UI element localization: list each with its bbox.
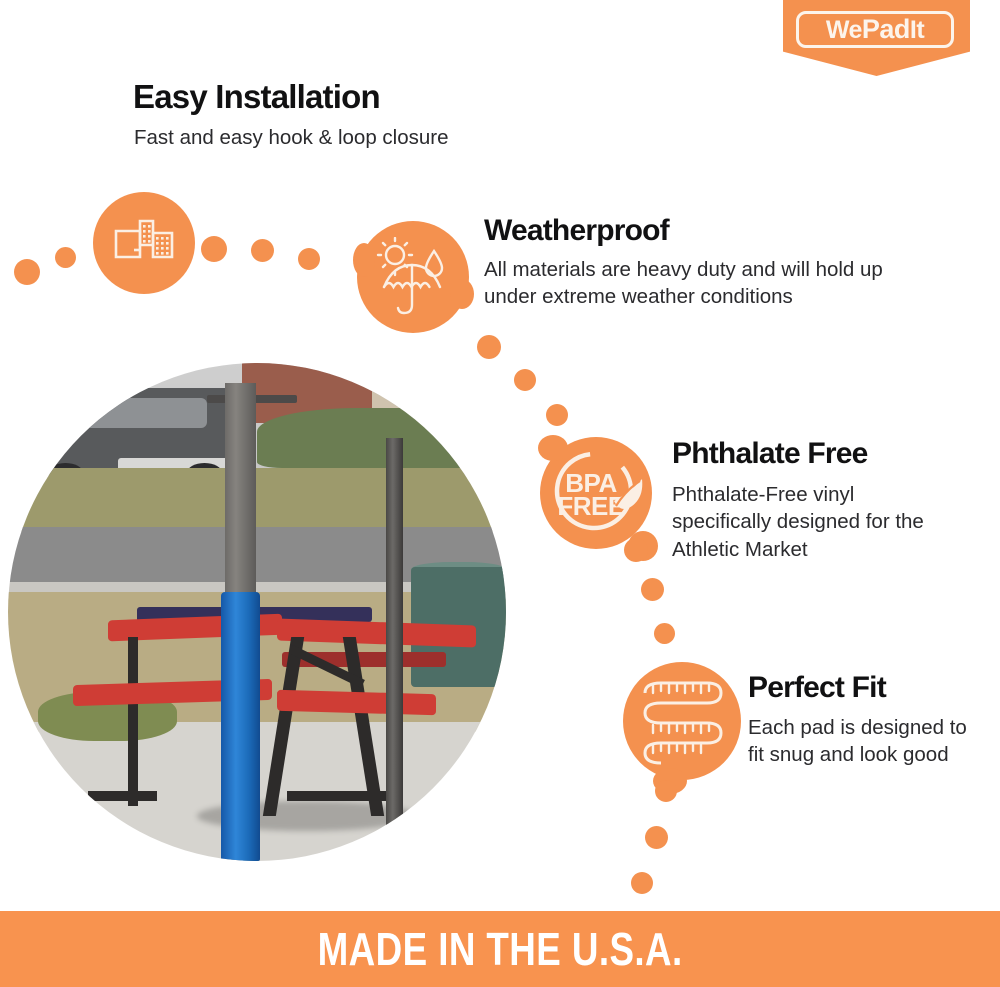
logo-wordmark: WePadIt: [826, 16, 924, 43]
svg-text:FREE: FREE: [557, 491, 625, 521]
hook-and-loop-icon: [93, 192, 195, 294]
feature-body-phthalate-free: Phthalate-Free vinyl specifically design…: [672, 481, 934, 563]
trail-dot: [14, 259, 40, 285]
bpa-free-leaf-icon: BPA FREE: [540, 437, 652, 549]
trail-dot: [624, 538, 648, 562]
trail-dot: [55, 247, 76, 268]
logo-text-pad: Pad: [862, 14, 910, 44]
umbrella-sun-rain-icon: [357, 221, 469, 333]
trail-dot: [298, 248, 320, 270]
feature-body-perfect-fit: Each pad is designed to fit snug and loo…: [748, 714, 976, 769]
trail-dot: [477, 335, 501, 359]
product-photo-scene: [8, 363, 506, 861]
trail-dot: [655, 780, 677, 802]
made-in-usa-text: MADE IN THE U.S.A.: [318, 922, 683, 976]
feature-title-perfect-fit: Perfect Fit: [748, 672, 886, 704]
feature-body-weatherproof: All materials are heavy duty and will ho…: [484, 256, 914, 311]
trail-dot: [201, 236, 227, 262]
trail-dot: [251, 239, 274, 262]
icon-blob: [538, 435, 568, 461]
trail-dot: [654, 623, 675, 644]
trail-dot: [546, 404, 568, 426]
measuring-tape-icon: [623, 662, 741, 780]
icon-blob: [450, 279, 474, 309]
icon-blob: [353, 243, 375, 277]
product-photo: [8, 363, 506, 861]
feature-title-easy-installation: Easy Installation: [133, 80, 380, 115]
trail-dot: [645, 826, 668, 849]
trail-dot: [631, 872, 653, 894]
made-in-usa-banner: MADE IN THE U.S.A.: [0, 911, 1000, 987]
feature-title-phthalate-free: Phthalate Free: [672, 438, 868, 470]
trail-dot: [514, 369, 536, 391]
trail-dot: [641, 578, 664, 601]
feature-body-easy-installation: Fast and easy hook & loop closure: [134, 124, 554, 151]
blue-pole-pad: [221, 592, 260, 861]
feature-title-weatherproof: Weatherproof: [484, 215, 669, 247]
logo-text-we: We: [826, 16, 862, 44]
logo-text-it: It: [910, 16, 924, 44]
brand-logo-badge: WePadIt: [783, 0, 970, 76]
product-feature-infographic: WePadIt Easy Installation Fast and easy …: [0, 0, 1000, 987]
logo-frame: WePadIt: [796, 11, 954, 48]
